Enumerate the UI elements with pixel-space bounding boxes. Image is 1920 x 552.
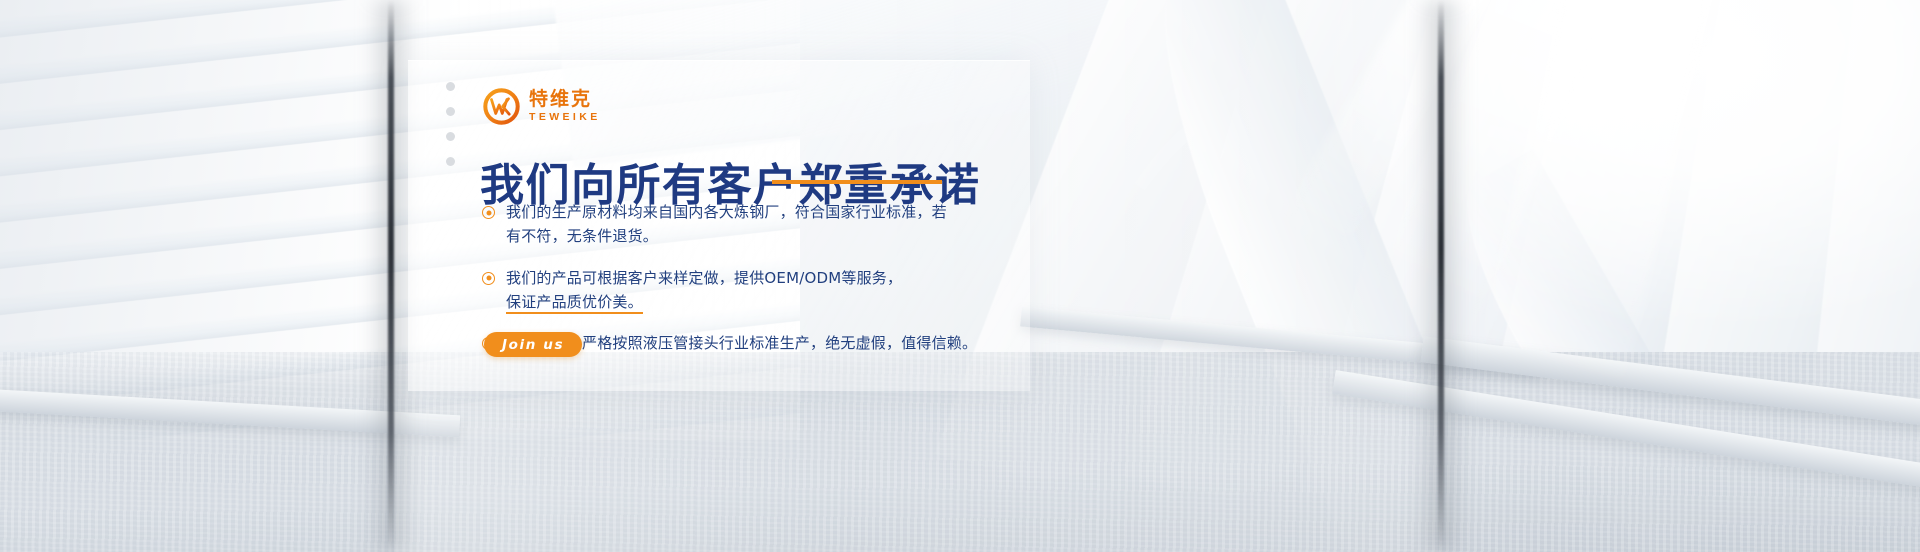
ring-dot-icon	[482, 206, 495, 219]
hero-banner: 特维克 TEWEIKE 我们向所有客户郑重承诺 我们的生产原材料均来自国内各大炼…	[0, 0, 1920, 552]
brand-name-en: TEWEIKE	[529, 112, 601, 123]
headline-underline-accent	[772, 180, 942, 184]
brand-logo-text: 特维克 TEWEIKE	[529, 90, 601, 123]
brand-name-cn: 特维克	[529, 90, 601, 109]
list-item-text: 我们的产品可根据客户来样定做，提供OEM/ODM等服务， 保证产品质优价美。	[506, 266, 902, 315]
decorative-dot-icon	[446, 157, 455, 166]
list-item-line: 有不符，无条件退货。	[506, 227, 658, 245]
teweike-circular-emblem-icon	[483, 88, 520, 125]
ring-dot-icon	[482, 272, 495, 285]
brand-logo[interactable]: 特维克 TEWEIKE	[483, 88, 601, 125]
decorative-dot-icon	[446, 132, 455, 141]
decorative-dot-icon	[446, 107, 455, 116]
list-item: 我们的生产原材料均来自国内各大炼钢厂，符合国家行业标准，若 有不符，无条件退货。	[482, 200, 1002, 249]
join-us-button[interactable]: Join us	[484, 332, 582, 357]
list-item-line: 我们的生产原材料均来自国内各大炼钢厂，符合国家行业标准，若	[506, 203, 947, 221]
list-item-text: 我们的生产原材料均来自国内各大炼钢厂，符合国家行业标准，若 有不符，无条件退货。	[506, 200, 947, 249]
list-item: 我们的产品可根据客户来样定做，提供OEM/ODM等服务， 保证产品质优价美。	[482, 266, 1002, 315]
list-item-line: 我们的产品可根据客户来样定做，提供OEM/ODM等服务，	[506, 269, 902, 287]
decorative-dot-icon	[446, 82, 455, 91]
list-item-line-underlined: 保证产品质优价美。	[506, 293, 643, 314]
decorative-dot-column	[446, 82, 455, 166]
